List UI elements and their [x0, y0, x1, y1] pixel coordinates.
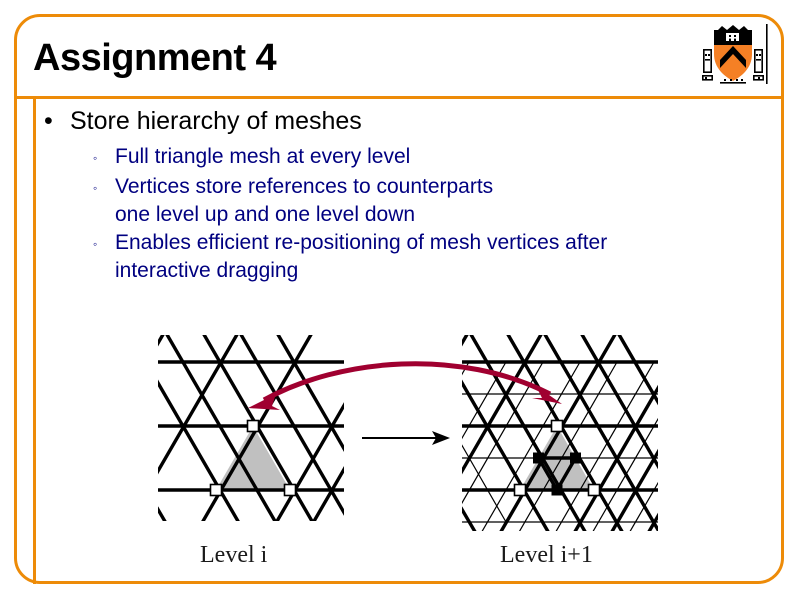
bullet-level1: • Store hierarchy of meshes — [44, 106, 760, 137]
bullet-level2-text: Full triangle mesh at every level — [115, 143, 410, 171]
bullet-level2-item: ◦ Enables efficient re-positioning of me… — [93, 229, 760, 285]
bullet-content: • Store hierarchy of meshes ◦ Full trian… — [44, 106, 760, 285]
subdivide-arrow — [362, 431, 450, 445]
hollow-bullet-marker-icon: ◦ — [93, 173, 115, 203]
bullet-marker-icon: • — [44, 106, 70, 137]
bullet-level2-text: Enables efficient re-positioning of mesh… — [115, 229, 607, 285]
hollow-bullet-marker-icon: ◦ — [93, 143, 115, 173]
bullet-sublist: ◦ Full triangle mesh at every level ◦ Ve… — [44, 143, 760, 285]
bullet-level1-text: Store hierarchy of meshes — [70, 106, 362, 137]
vertex-correspondence-arrow — [248, 364, 562, 410]
mesh-hierarchy-diagram: Level i Level i+1 — [140, 330, 680, 585]
slide: Assignment 4 — [0, 0, 800, 600]
hollow-bullet-marker-icon: ◦ — [93, 229, 115, 259]
right-mesh-caption: Level i+1 — [500, 542, 593, 569]
page-title: Assignment 4 — [33, 37, 276, 80]
bullet-level2-item: ◦ Full triangle mesh at every level — [93, 143, 760, 173]
left-mesh-caption: Level i — [200, 542, 267, 569]
body-left-divider — [33, 97, 36, 584]
bullet-level2-item: ◦ Vertices store references to counterpa… — [93, 173, 760, 229]
bullet-level2-text: Vertices store references to counterpart… — [115, 173, 493, 229]
princeton-shield-logo — [700, 24, 774, 86]
